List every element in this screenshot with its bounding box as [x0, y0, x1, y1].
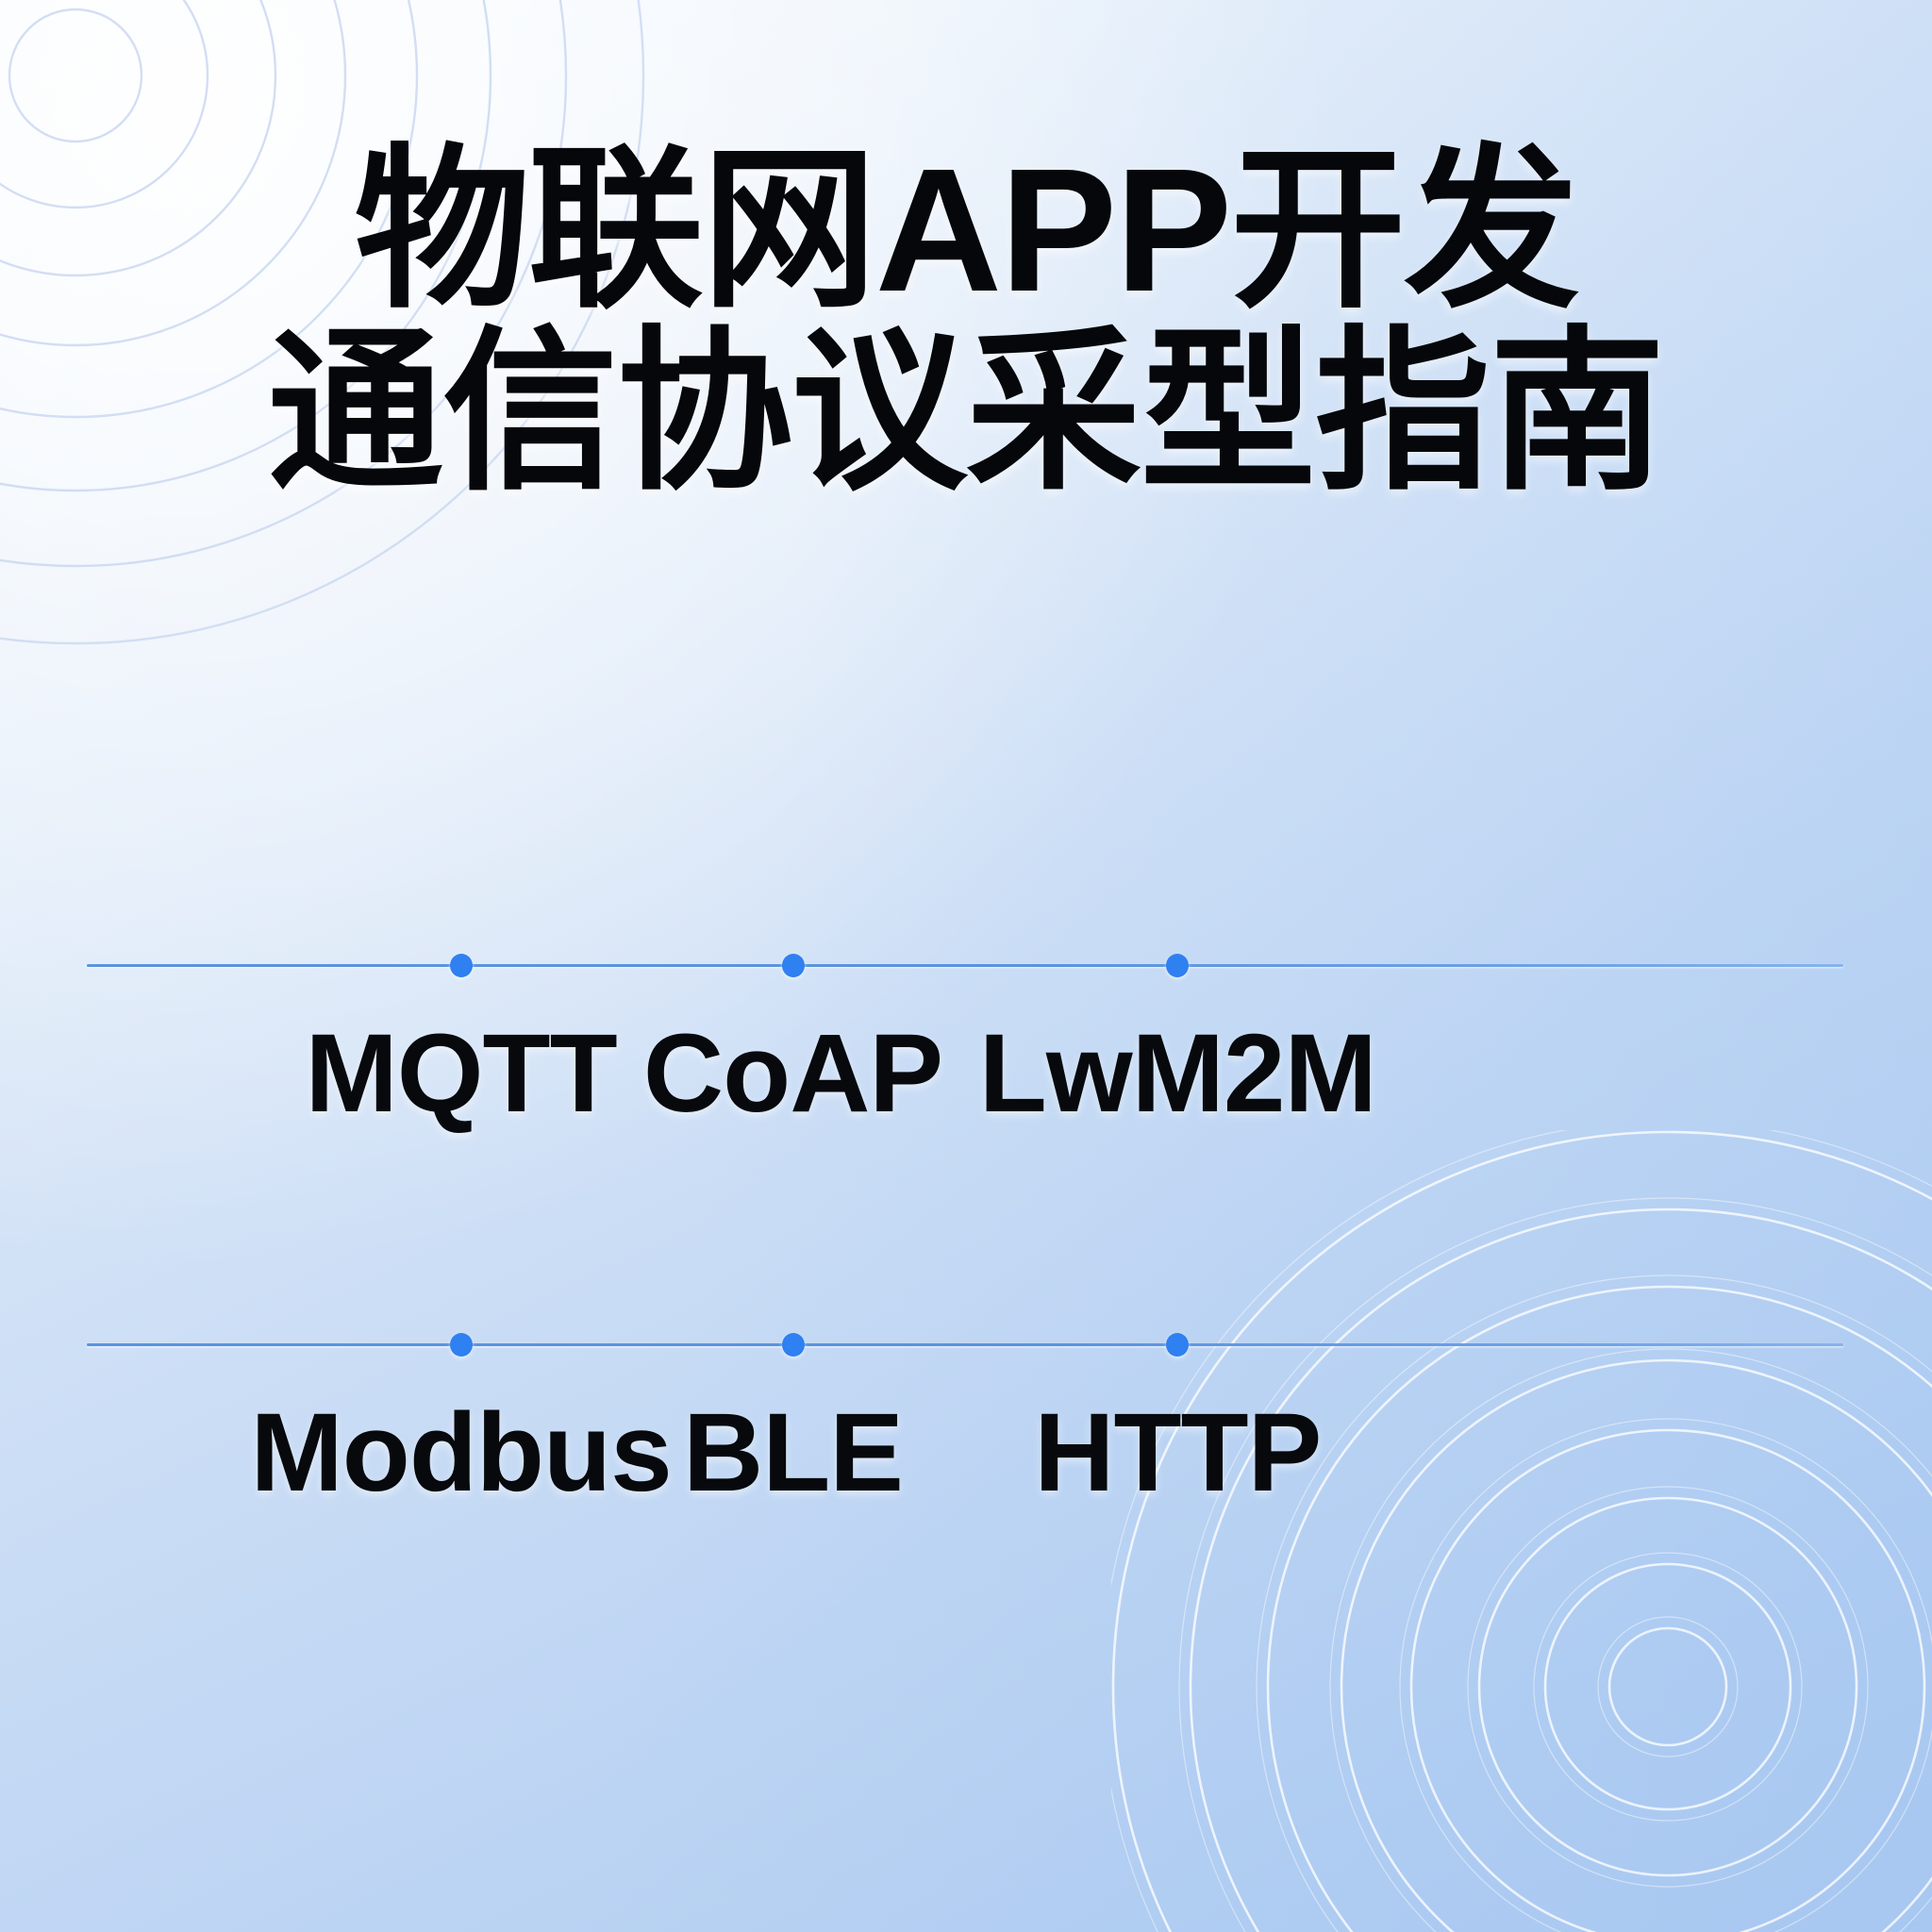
- poster-canvas: 物联网APP开发 通信协议采型指南 MQTT CoAP LwM2M: [0, 0, 1932, 1932]
- page-title: 物联网APP开发 通信协议采型指南: [0, 140, 1932, 505]
- protocol-label-mqtt[interactable]: MQTT: [305, 1018, 616, 1129]
- protocol-rail-2: [87, 1341, 1843, 1348]
- rail-line-1: [87, 964, 1843, 967]
- title-line-2: 通信协议采型指南: [0, 322, 1932, 504]
- protocol-row-1: MQTT CoAP LwM2M: [87, 962, 1843, 1148]
- protocol-labels-1: MQTT CoAP LwM2M: [87, 969, 1843, 1148]
- protocol-label-coap[interactable]: CoAP: [643, 1018, 942, 1129]
- rail-line-2: [87, 1343, 1843, 1346]
- title-line-1: 物联网APP开发: [0, 140, 1932, 322]
- protocol-label-ble[interactable]: BLE: [683, 1397, 903, 1508]
- protocol-rail-1: [87, 962, 1843, 969]
- protocol-label-lwm2m[interactable]: LwM2M: [979, 1018, 1376, 1129]
- protocol-labels-2: Modbus BLE HTTP: [87, 1348, 1843, 1527]
- protocol-label-modbus[interactable]: Modbus: [250, 1397, 671, 1508]
- protocol-label-http[interactable]: HTTP: [1034, 1397, 1321, 1508]
- protocol-row-2: Modbus BLE HTTP: [87, 1341, 1843, 1527]
